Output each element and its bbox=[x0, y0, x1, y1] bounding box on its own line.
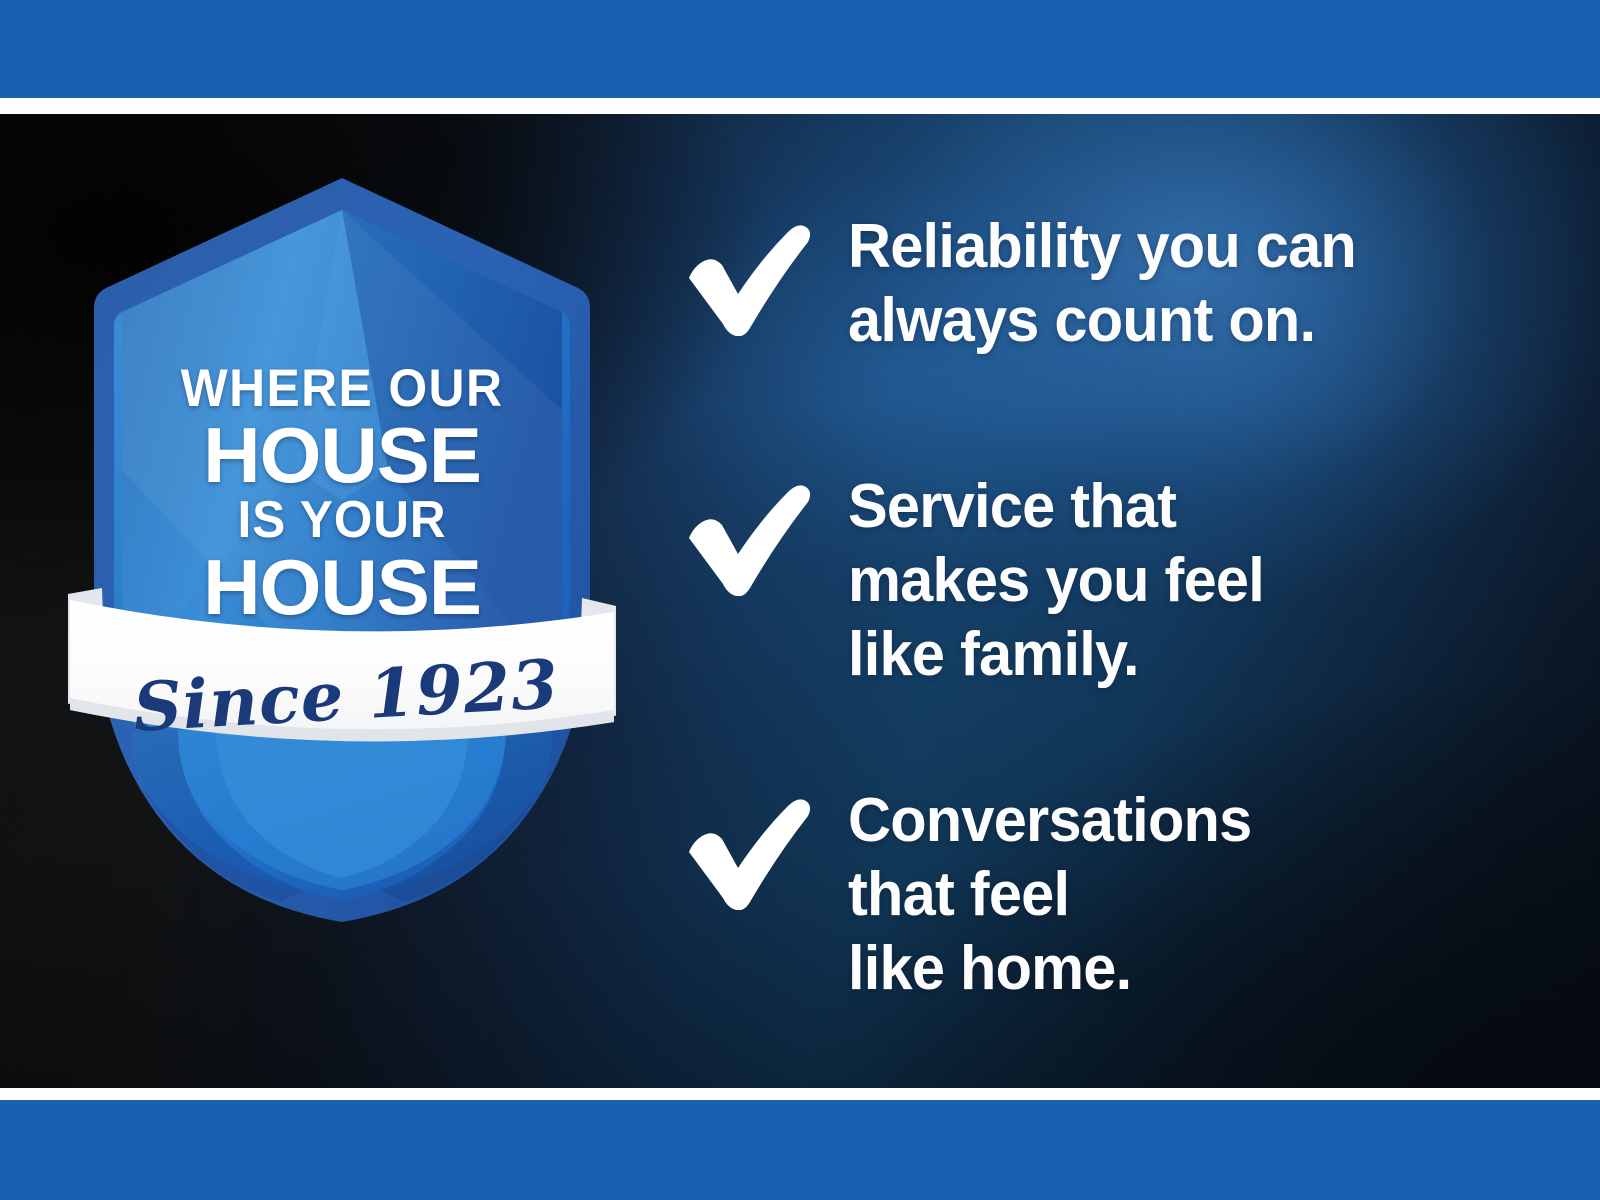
list-item-line-2: makes you feel bbox=[848, 544, 1462, 618]
bottom-separator bbox=[0, 1088, 1600, 1100]
bottom-brand-bar bbox=[0, 1100, 1600, 1200]
benefit-list: Reliability you can always count on. Ser… bbox=[660, 114, 1480, 1088]
list-item-line-1: Conversations bbox=[848, 784, 1462, 858]
list-item-text: Reliability you can always count on. bbox=[848, 210, 1462, 358]
top-separator bbox=[0, 98, 1600, 114]
top-brand-bar bbox=[0, 0, 1600, 98]
list-item-line-3: like home. bbox=[848, 932, 1462, 1006]
list-item-line-2: that feel bbox=[848, 858, 1462, 932]
checkmark-icon bbox=[678, 476, 818, 596]
promo-poster: WHERE OUR HOUSE IS YOUR HOUSE Since 1923… bbox=[0, 0, 1600, 1200]
list-item-text: Service that makes you feel like family. bbox=[848, 470, 1462, 692]
list-item-line-1: Service that bbox=[848, 470, 1462, 544]
checkmark-icon bbox=[678, 790, 818, 910]
list-item-text: Conversations that feel like home. bbox=[848, 784, 1462, 1006]
list-item-line-3: like family. bbox=[848, 618, 1462, 692]
checkmark-icon bbox=[678, 216, 818, 336]
list-item-line-1: Reliability you can bbox=[848, 210, 1462, 284]
shield-badge: WHERE OUR HOUSE IS YOUR HOUSE Since 1923 bbox=[66, 170, 618, 930]
list-item-line-2: always count on. bbox=[848, 284, 1462, 358]
